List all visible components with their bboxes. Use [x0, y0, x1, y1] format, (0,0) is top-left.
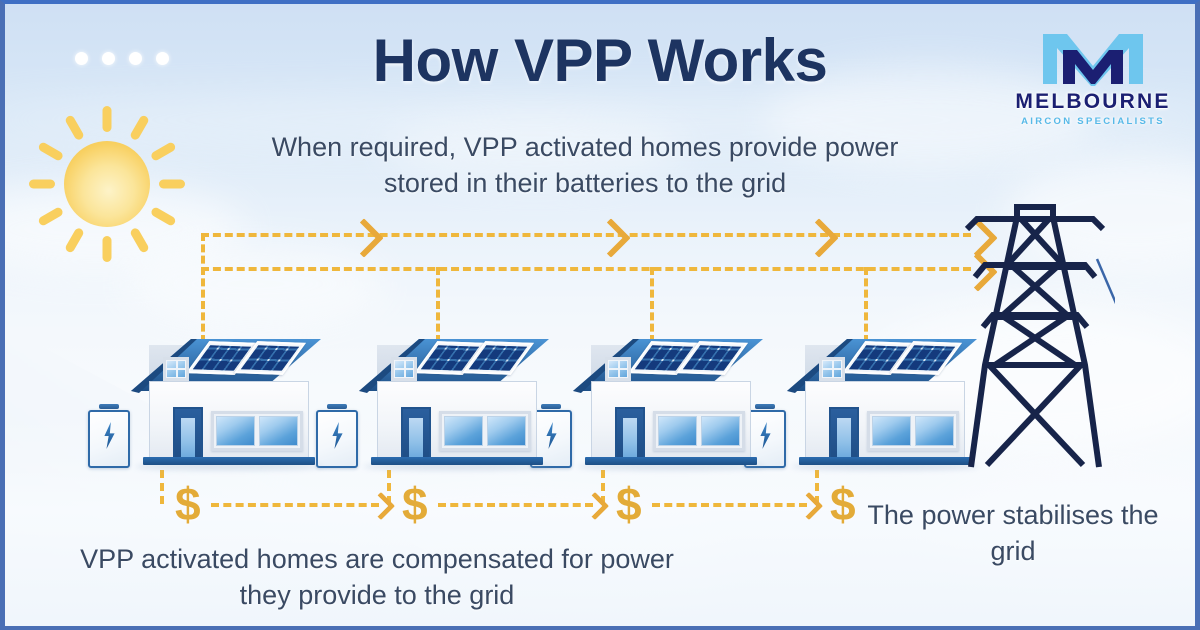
house-door	[173, 407, 203, 461]
money-rail-1	[211, 503, 379, 507]
callout-bottom-left: VPP activated homes are compensated for …	[57, 542, 697, 613]
dot-3	[129, 52, 142, 65]
house-window	[439, 411, 531, 451]
callout-bottom-right: The power stabilises the grid	[863, 498, 1163, 569]
dot-1	[75, 52, 88, 65]
battery-icon-1	[88, 404, 130, 470]
money-marker-1: $	[175, 481, 201, 527]
house-window	[211, 411, 303, 451]
money-marker-2: $	[402, 481, 428, 527]
logo-tagline-text: AIRCON SPECIALISTS	[1009, 116, 1177, 127]
sun-icon	[27, 104, 187, 264]
dot-2	[102, 52, 115, 65]
house-window	[867, 411, 959, 451]
callout-top: When required, VPP activated homes provi…	[235, 130, 935, 201]
chevron-right-icon-3	[799, 218, 839, 258]
money-rail-2	[438, 503, 593, 507]
riser-house-1	[201, 233, 205, 343]
house-with-solar-icon-4	[781, 329, 981, 469]
house-with-solar-icon-1	[125, 329, 325, 469]
chevron-right-icon-2	[591, 218, 631, 258]
money-riser-1	[160, 470, 164, 504]
brand-logo[interactable]: MELBOURNE AIRCON SPECIALISTS	[1009, 26, 1177, 127]
house-door	[401, 407, 431, 461]
flow-rail-lower	[201, 267, 971, 271]
melbourne-m-logo-icon	[1037, 26, 1149, 88]
house-window	[653, 411, 745, 451]
infographic-canvas: How VPP Works MELBOURNE AIRCON SPECIALIS…	[0, 0, 1200, 630]
dot-4	[156, 52, 169, 65]
house-door	[615, 407, 645, 461]
money-marker-3: $	[616, 481, 642, 527]
flow-rail-upper	[201, 233, 971, 237]
money-marker-4: $	[830, 481, 856, 527]
sun-core	[64, 141, 150, 227]
house-with-solar-icon-3	[567, 329, 767, 469]
chevron-right-icon-1	[344, 218, 384, 258]
house-door	[829, 407, 859, 461]
transmission-tower-icon	[955, 199, 1105, 474]
money-rail-3	[652, 503, 807, 507]
decorative-dots	[75, 52, 169, 65]
logo-brand-text: MELBOURNE	[1009, 90, 1177, 114]
house-with-solar-icon-2	[353, 329, 553, 469]
